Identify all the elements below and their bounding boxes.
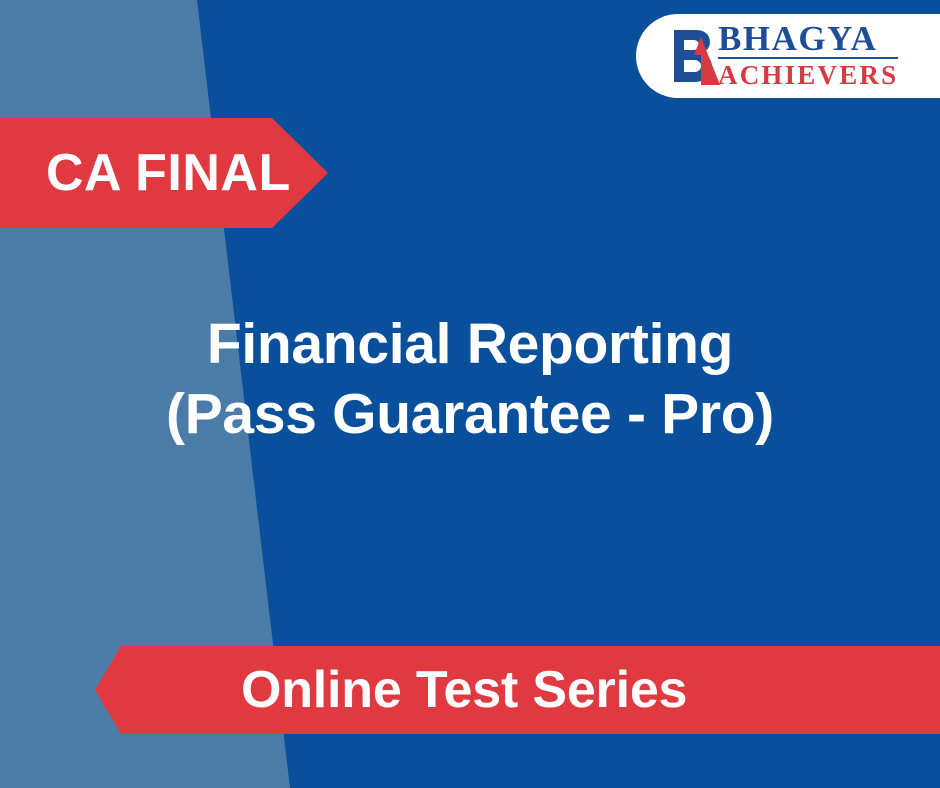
course-level-label: CA FINAL <box>0 147 291 199</box>
course-title-line-2: (Pass Guarantee - Pro) <box>0 380 940 450</box>
brand-name-secondary: ACHIEVERS <box>718 59 898 89</box>
brand-name-primary: BHAGYA <box>718 22 898 59</box>
product-type-ribbon: Online Test Series <box>95 646 940 734</box>
product-type-label: Online Test Series <box>95 664 687 716</box>
brand-wordmark: BHAGYA ACHIEVERS <box>718 22 898 90</box>
bhagya-achievers-monogram-icon <box>670 27 720 85</box>
brand-logo-badge: BHAGYA ACHIEVERS <box>636 14 940 98</box>
course-title-line-1: Financial Reporting <box>0 310 940 380</box>
course-level-pennant: CA FINAL <box>0 118 328 228</box>
course-title-block: Financial Reporting (Pass Guarantee - Pr… <box>0 310 940 449</box>
course-promo-banner: BHAGYA ACHIEVERS CA FINAL Financial Repo… <box>0 0 940 788</box>
